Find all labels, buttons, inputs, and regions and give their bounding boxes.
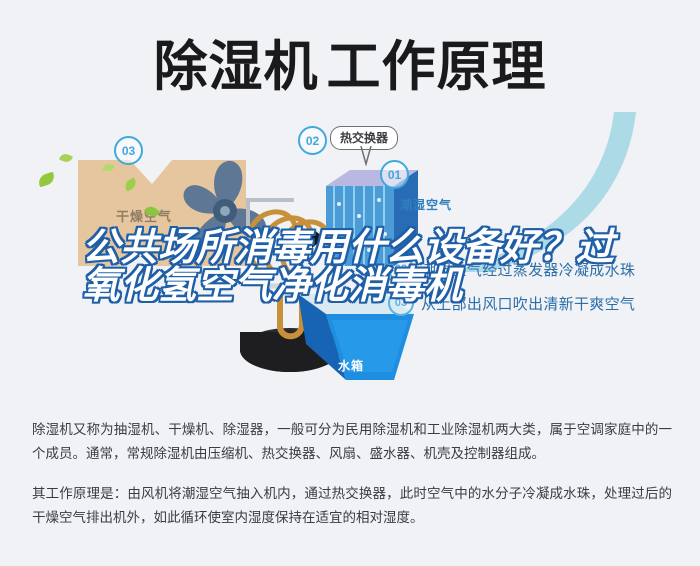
leaf-icon — [37, 172, 57, 188]
dehumidifier-diagram: 干燥空气 — [0, 112, 700, 392]
humid-air-label: 潮湿空气 — [400, 196, 452, 213]
legend-item: 03 从上部出风口吹出清新干爽空气 — [388, 286, 688, 320]
diagram-badge-03: 03 — [114, 136, 143, 165]
page-title-part-2: 工作原理 — [327, 35, 547, 98]
diagram-badge-01: 01 — [380, 160, 409, 189]
legend-badge-03: 03 — [388, 290, 414, 316]
article-container: 除湿机工作原理 干燥空气 — [0, 0, 700, 566]
water-tank-label: 水箱 — [338, 357, 364, 374]
page-title: 除湿机工作原理 — [0, 28, 700, 106]
page-title-part-1: 除湿机 — [154, 35, 319, 98]
article-body: 除湿机又称为抽湿机、干燥机、除湿器，一般可分为民用除湿机和工业除湿机两大类，属于… — [32, 418, 672, 530]
legend-item: 02 潮湿空气经过蒸发器冷凝成水珠 — [388, 252, 688, 286]
body-paragraph-2: 其工作原理是：由风机将潮湿空气抽入机内，通过热交换器，此时空气中的水分子冷凝成水… — [32, 482, 672, 530]
legend-badge-02: 02 — [388, 256, 414, 282]
legend-text-02: 潮湿空气经过蒸发器冷凝成水珠 — [421, 259, 635, 280]
legend-text-03: 从上部出风口吹出清新干爽空气 — [421, 293, 635, 314]
diagram-badge-02: 02 — [298, 126, 327, 155]
page-title-text: 除湿机工作原理 — [154, 40, 547, 94]
callout-tail-icon — [360, 146, 372, 166]
body-paragraph-1: 除湿机又称为抽湿机、干燥机、除湿器，一般可分为民用除湿机和工业除湿机两大类，属于… — [32, 418, 672, 466]
diagram-legend: 02 潮湿空气经过蒸发器冷凝成水珠 03 从上部出风口吹出清新干爽空气 — [388, 252, 688, 320]
